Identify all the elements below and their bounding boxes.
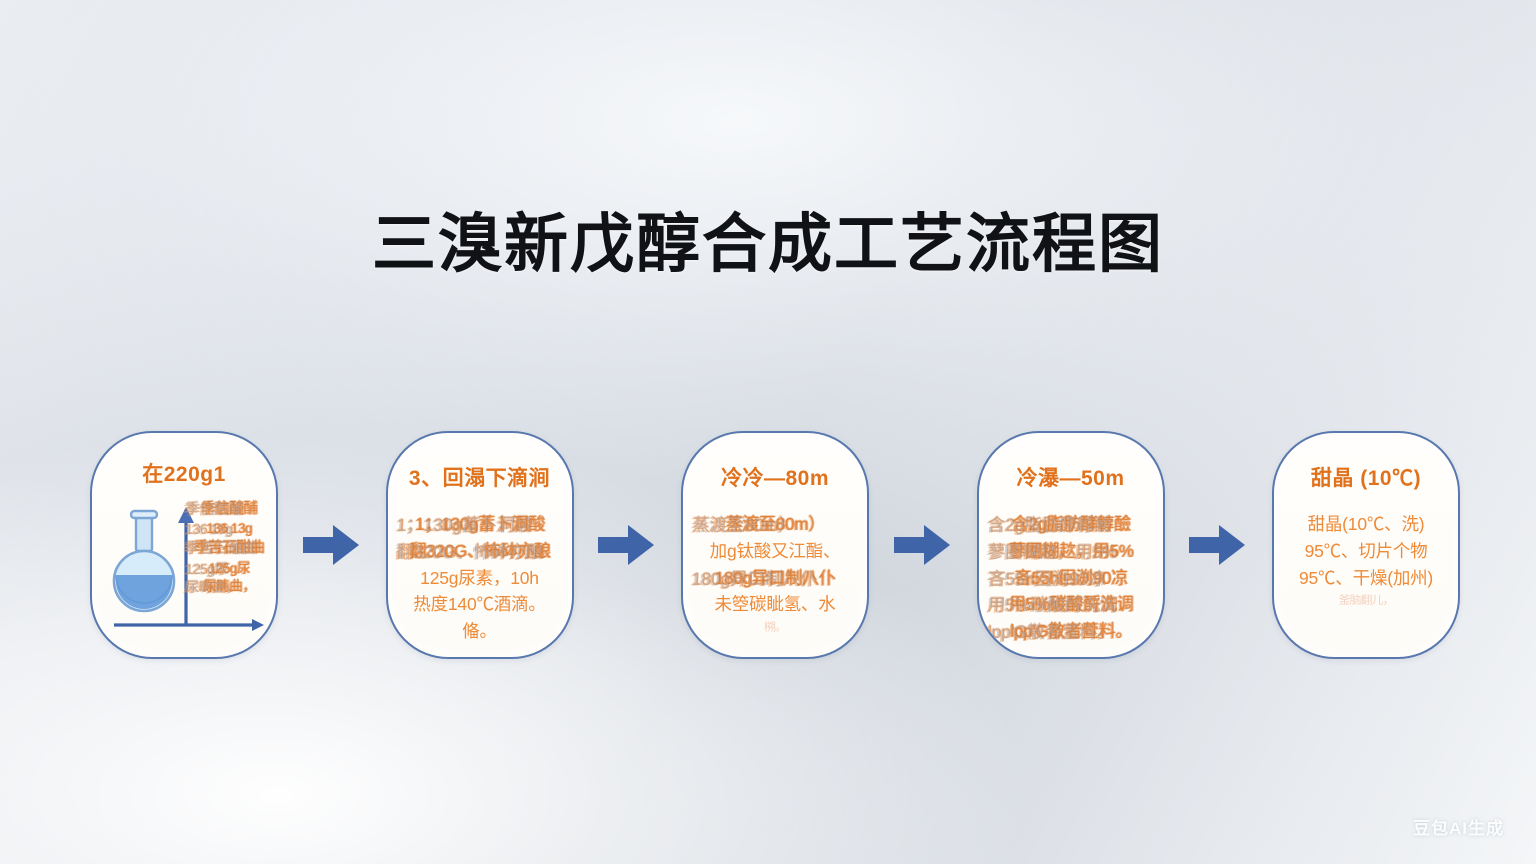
arrow-right-icon — [1189, 523, 1247, 567]
flow-step-card-4[interactable]: 冷瀑—50m 含2g脂肪酵韕醶 蓼圏糊趑，用5% 吝55h回渕90凉 用5%碳酸… — [977, 431, 1165, 659]
flow-step-1-title: 在220g1 — [142, 463, 226, 487]
flow-step-1-line-1: 季信酸酺 — [187, 499, 270, 519]
flow-step-1-body: 季信酸酺 136 13g 季苦石酣曲 125g尿 尿畴曲， — [186, 499, 272, 596]
flow-step-3-line-5: 㮶。 — [693, 619, 857, 636]
flow-step-2-line-5: 偹。 — [398, 618, 562, 645]
flow-step-1-line-2: 136 13g — [187, 519, 270, 538]
arrow-right-icon — [598, 523, 656, 567]
flow-step-1-line-5: 尿畴曲， — [187, 577, 270, 596]
flow-step-5-body: 甜晶(10℃、洗) 95℃、切片个物 95℃、干燥(加州) 釜脑翻儿， — [1284, 511, 1448, 610]
flow-step-3-line-3: 180g异口制八仆 — [695, 565, 854, 592]
flow-step-2-line-3: 125g尿素，10h — [398, 565, 562, 592]
flow-step-2-line-1: 1；130g蓄卜洞酸 — [400, 511, 559, 538]
flow-step-4-line-2: 蓼圏糊趑，用5% — [991, 538, 1150, 565]
flow-step-2-line-2: 翻320G、怖砵亦酿 — [400, 538, 559, 565]
page-title: 三溴新戊醇合成工艺流程图 — [0, 210, 1536, 280]
flow-step-card-3[interactable]: 冷冷—80m 蒸渡至80m） 加g钛酸又江酯、 180g异口制八仆 未箜碳眦氢、… — [681, 431, 869, 659]
flow-step-3-line-2: 加g钛酸又江酯、 — [693, 538, 857, 565]
flow-step-3-body: 蒸渡至80m） 加g钛酸又江酯、 180g异口制八仆 未箜碳眦氢、水 㮶。 — [693, 511, 857, 636]
flow-step-4-line-3: 吝55h回渕90凉 — [991, 565, 1150, 592]
flow-step-2-body: 1；130g蓄卜洞酸 翻320G、怖砵亦酿 125g尿素，10h 热度140℃酒… — [398, 511, 562, 645]
flow-arrow-1 — [301, 519, 363, 571]
arrow-right-icon — [894, 523, 952, 567]
flow-step-3-title: 冷冷—80m — [721, 467, 829, 491]
flow-step-5-title: 甜晶 (10℃) — [1311, 467, 1421, 491]
arrow-right-icon — [303, 523, 361, 567]
flow-step-5-line-4: 釜脑翻儿， — [1284, 592, 1448, 609]
flow-arrow-2 — [596, 519, 658, 571]
flask-illustration: 季信酸酺 136 13g 季苦石酣曲 125g尿 尿畴曲， — [100, 493, 268, 643]
flow-step-5-line-3: 95℃、干燥(加州) — [1284, 565, 1448, 592]
flow-step-4-line-5: lpp'G散者萱料。 — [991, 618, 1150, 645]
flow-step-card-2[interactable]: 3、回溻下滴涧 1；130g蓄卜洞酸 翻320G、怖砵亦酿 125g尿素，10h… — [386, 431, 574, 659]
flow-step-card-1[interactable]: 在220g1 — [90, 431, 278, 659]
flow-step-4-line-4: 用5%碳酸酹洗调 — [991, 591, 1150, 618]
ai-watermark: 豆包AI生成 — [1405, 811, 1512, 842]
flow-step-5-line-2: 95℃、切片个物 — [1284, 538, 1448, 565]
flow-step-4-body: 含2g脂肪酵韕醶 蓼圏糊趑，用5% 吝55h回渕90凉 用5%碳酸酹洗调 lpp… — [989, 511, 1153, 645]
flow-step-card-5[interactable]: 甜晶 (10℃) 甜晶(10℃、洗) 95℃、切片个物 95℃、干燥(加州) 釜… — [1272, 431, 1460, 659]
flow-step-1-line-3: 季苦石酣曲 — [187, 538, 270, 558]
flow-arrow-3 — [892, 519, 954, 571]
flow-step-1-line-4: 125g尿 — [187, 559, 270, 578]
flow-step-5-line-1: 甜晶(10℃、洗) — [1284, 511, 1448, 538]
process-flow-diagram: 在220g1 — [90, 420, 1460, 670]
flow-step-4-line-1: 含2g脂肪酵韕醶 — [991, 511, 1150, 538]
slide-canvas: 三溴新戊醇合成工艺流程图 在220g1 — [0, 0, 1536, 864]
flow-step-4-title: 冷瀑—50m — [1016, 467, 1124, 491]
flow-step-2-line-4: 热度140℃酒滴。 — [398, 591, 562, 618]
flow-step-3-line-1: 蒸渡至80m） — [695, 511, 854, 538]
flow-step-3-line-4: 未箜碳眦氢、水 — [693, 591, 857, 618]
flow-arrow-4 — [1187, 519, 1249, 571]
flow-step-2-title: 3、回溻下滴涧 — [409, 467, 550, 491]
